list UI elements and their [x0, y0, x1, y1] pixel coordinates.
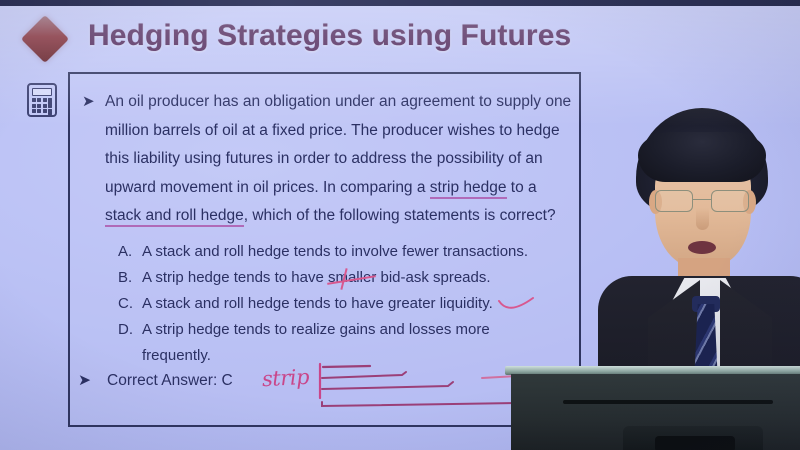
- question-text-part2: to a: [507, 179, 537, 196]
- calculator-keys: [32, 98, 52, 115]
- calculator-key: [43, 109, 47, 113]
- calculator-key: [37, 98, 41, 102]
- calculator-key: [48, 98, 52, 108]
- correct-answer-line: ➤Correct Answer: C: [78, 371, 233, 390]
- calculator-key: [32, 109, 36, 113]
- underlined-term-strip-hedge: strip hedge: [430, 179, 507, 199]
- calculator-key: [43, 98, 47, 102]
- monitor-stand-base: [655, 436, 735, 450]
- calculator-screen: [32, 88, 52, 96]
- option-b-label: B.: [118, 265, 142, 291]
- option-d-text: A strip hedge tends to realize gains and…: [142, 317, 588, 343]
- presenter-nose: [696, 208, 709, 230]
- question-text-part3: , which of the following statements is c…: [244, 207, 556, 224]
- calculator-key: [43, 104, 47, 108]
- option-b-text-before: A strip hedge tends to have: [142, 269, 328, 286]
- option-a-label: A.: [118, 239, 142, 265]
- option-d-label: D.: [118, 317, 142, 343]
- monitor-vent-groove: [563, 400, 773, 404]
- option-c-text: A stack and roll hedge tends to have gre…: [142, 291, 588, 317]
- top-edge-band: [0, 0, 800, 6]
- option-a-text: A stack and roll hedge tends to involve …: [142, 239, 588, 265]
- options-list: A. A stack and roll hedge tends to invol…: [118, 239, 588, 369]
- option-d[interactable]: D. A strip hedge tends to realize gains …: [118, 317, 588, 343]
- answer-bullet: ➤: [78, 372, 91, 389]
- option-c-label-text: A stack and roll hedge tends to have gre…: [142, 295, 493, 312]
- presenter-mouth: [688, 241, 716, 254]
- option-b-text-after: bid-ask spreads.: [376, 269, 490, 286]
- diamond-bullet-icon: [21, 15, 69, 63]
- glasses-lens-right: [711, 190, 749, 212]
- glasses-bridge: [693, 199, 711, 200]
- option-c[interactable]: C. A stack and roll hedge tends to have …: [118, 291, 588, 317]
- question-bullet: ➤: [82, 94, 95, 109]
- glasses-lens-left: [655, 190, 693, 212]
- video-frame: Hedging Strategies using Futures ➤ An oi…: [0, 0, 800, 450]
- checkmark-icon: [497, 295, 537, 313]
- calculator-key: [32, 98, 36, 102]
- option-a[interactable]: A. A stack and roll hedge tends to invol…: [118, 239, 588, 265]
- calculator-key: [32, 104, 36, 108]
- presenter-hair-front: [638, 132, 766, 182]
- question-paragraph: An oil producer has an obligation under …: [105, 88, 575, 231]
- struck-word-smaller: smaller: [328, 265, 376, 291]
- calculator-icon: [27, 83, 57, 117]
- calculator-key: [37, 109, 41, 113]
- underlined-term-stack-and-roll-hedge: stack and roll hedge: [105, 207, 244, 227]
- answer-text: Correct Answer: C: [107, 372, 233, 389]
- option-c-label: C.: [118, 291, 142, 317]
- presenter-figure: [608, 108, 800, 398]
- option-b-text: A strip hedge tends to have smaller bid-…: [142, 265, 588, 291]
- option-b[interactable]: B. A strip hedge tends to have smaller b…: [118, 265, 588, 291]
- calculator-key: [48, 109, 52, 115]
- podium-monitor: [505, 366, 800, 450]
- page-title: Hedging Strategies using Futures: [88, 19, 571, 53]
- calculator-key: [37, 104, 41, 108]
